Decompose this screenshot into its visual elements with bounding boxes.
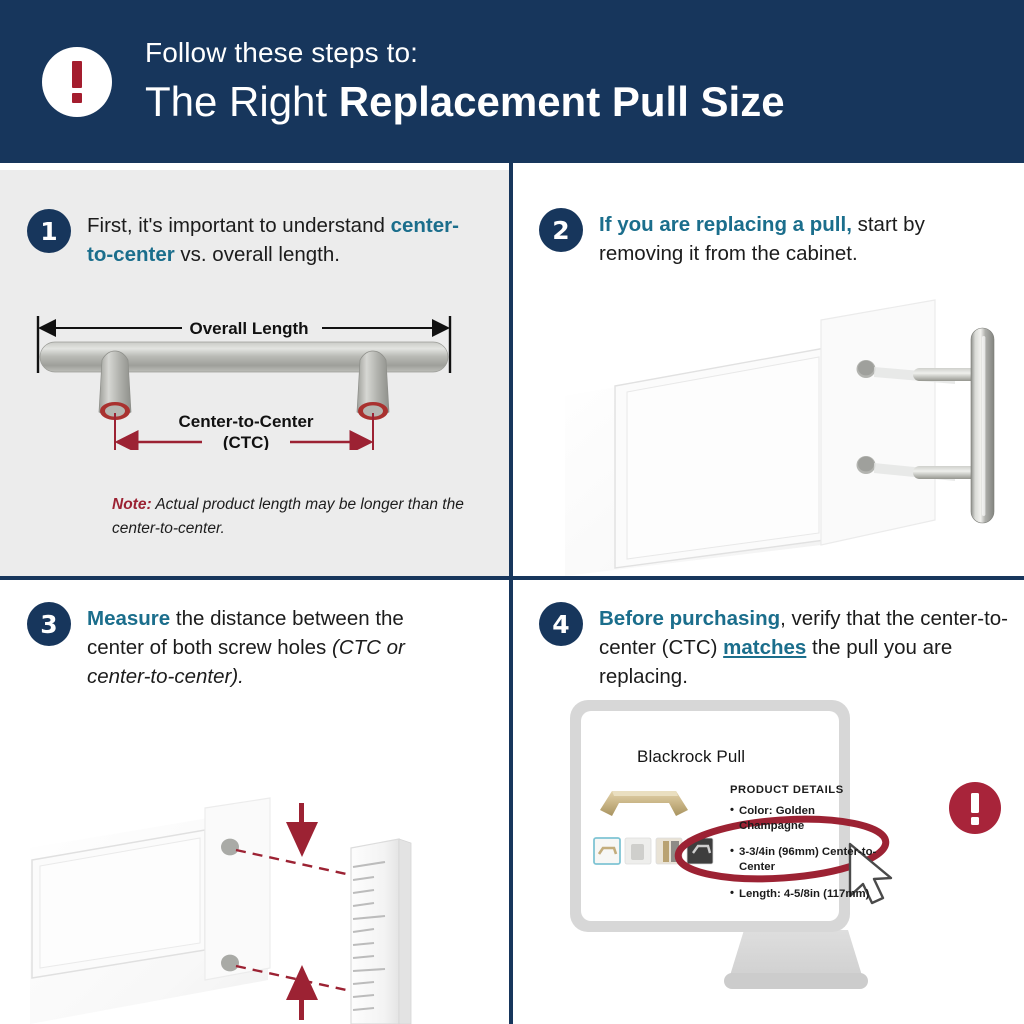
- step-4-header: 4 Before purchasing, verify that the cen…: [539, 602, 1009, 691]
- product-details-heading: PRODUCT DETAILS: [730, 784, 844, 796]
- ctc-label: Center-to-Center: [178, 412, 313, 431]
- step-panel-3: 3 Measure the distance between the cente…: [0, 580, 509, 1024]
- note-label: Note:: [112, 496, 152, 513]
- step-number-2: 2: [539, 208, 583, 252]
- step-number-1: 1: [27, 209, 71, 253]
- step-panel-4: 4 Before purchasing, verify that the cen…: [513, 580, 1024, 1024]
- measure-arrow-up: [286, 965, 318, 1020]
- measuring-screw-holes-illustration: [30, 700, 509, 1024]
- screw-hole-bottom: [221, 955, 239, 972]
- step-4-text-accent: Before purchasing: [599, 607, 780, 630]
- monitor-stand-base: [724, 973, 868, 989]
- screw-hole-bottom-inner: [858, 457, 874, 472]
- ruler-edge: [399, 839, 411, 1024]
- step-1-text-a: First, it's important to understand: [87, 214, 391, 237]
- screw-hole-top-inner: [858, 361, 874, 376]
- pull-post-top: [913, 368, 978, 381]
- matches-link[interactable]: matches: [723, 636, 806, 659]
- step-1-text-b: vs. overall length.: [175, 243, 340, 266]
- product-detail-ctc: 3-3/4in (96mm) Center-to-Center: [730, 845, 880, 875]
- door-panel-bevel: [627, 357, 819, 559]
- step-3-text: Measure the distance between the center …: [87, 602, 457, 691]
- product-card-title: Blackrock Pull: [637, 747, 745, 767]
- cabinet-door-with-pull-illustration: [563, 290, 1024, 576]
- step-panel-2: 2 If you are replacing a pull, start by …: [513, 170, 1024, 576]
- page-title: The Right Replacement Pull Size: [145, 78, 785, 125]
- pull-post-bottom: [913, 466, 978, 479]
- header-kicker: Follow these steps to:: [145, 38, 785, 69]
- page-header: Follow these steps to: The Right Replace…: [0, 0, 1024, 163]
- step-2-text-accent: If you are replacing a pull,: [599, 213, 852, 236]
- pull-bar-highlight: [982, 336, 985, 516]
- step-2-text: If you are replacing a pull, start by re…: [599, 208, 959, 268]
- exclamation-badge: [949, 782, 1001, 834]
- ctc-label-abbr: (CTC): [223, 433, 269, 450]
- pull-bar: [40, 342, 448, 372]
- note-text: Actual product length may be longer than…: [112, 496, 464, 537]
- step-2-header: 2 If you are replacing a pull, start by …: [539, 208, 959, 268]
- step-1-header: 1 First, it's important to understand ce…: [27, 209, 477, 269]
- product-detail-length: Length: 4-5/8in (117mm): [730, 887, 880, 902]
- step-1-note: Note: Actual product length may be longe…: [112, 493, 472, 541]
- step-number-4: 4: [539, 602, 583, 646]
- infographic-page: Follow these steps to: The Right Replace…: [0, 0, 1024, 1024]
- product-detail-color: Color: Golden Champagne: [730, 804, 880, 834]
- pull-dimension-diagram: Overall Length Center-to-Center (CTC): [34, 310, 474, 450]
- product-details-list: Color: Golden Champagne 3-3/4in (96mm) C…: [730, 804, 880, 913]
- title-light: The Right: [145, 78, 339, 125]
- step-4-text: Before purchasing, verify that the cente…: [599, 602, 1009, 691]
- step-panel-1: 1 First, it's important to understand ce…: [0, 170, 509, 576]
- door-stile: [821, 300, 935, 545]
- door-stile: [205, 798, 270, 980]
- steps-grid: 1 First, it's important to understand ce…: [0, 163, 1024, 1024]
- overall-length-label: Overall Length: [189, 319, 308, 338]
- exclamation-icon: [42, 47, 112, 117]
- step-3-text-accent: Measure: [87, 607, 170, 630]
- measure-arrow-down: [286, 803, 318, 857]
- step-number-3: 3: [27, 602, 71, 646]
- step-3-header: 3 Measure the distance between the cente…: [27, 602, 457, 691]
- step-1-text: First, it's important to understand cent…: [87, 209, 477, 269]
- screw-hole-top: [221, 839, 239, 856]
- title-bold: Replacement Pull Size: [339, 78, 785, 125]
